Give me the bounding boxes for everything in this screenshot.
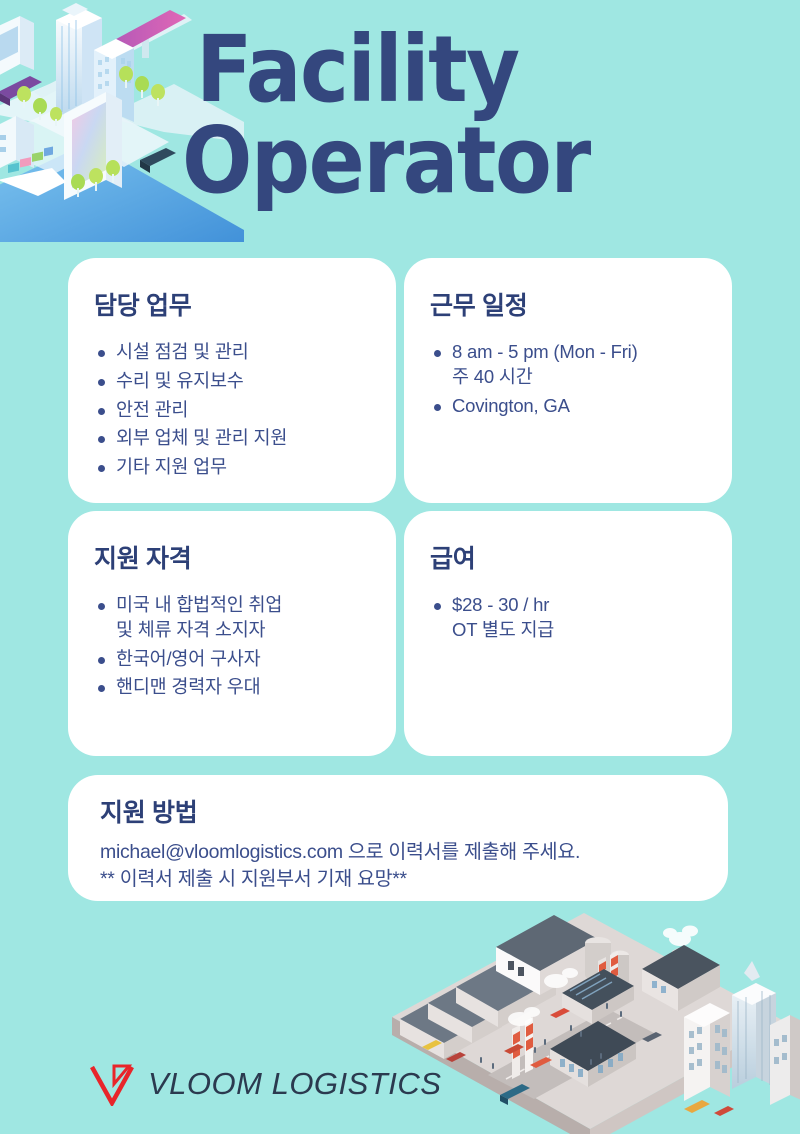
card-duties-title: 담당 업무 [94, 286, 370, 322]
list-item-text: 기타 지원 업무 [116, 456, 227, 477]
card-schedule-list: 8 am - 5 pm (Mon - Fri) 주 40 시간 Covingto… [430, 340, 706, 418]
title-line-1: Facility [196, 24, 666, 115]
list-item: 기타 지원 업무 [94, 455, 370, 480]
apply-instructions-line-2: ** 이력서 제출 시 지원부서 기재 요망** [100, 866, 702, 893]
list-item-text: 미국 내 합법적인 취업 [116, 594, 282, 615]
list-item-subtext: 및 체류 자격 소지자 [116, 618, 370, 643]
list-item: 8 am - 5 pm (Mon - Fri) 주 40 시간 [430, 340, 706, 390]
list-item-text: 핸디맨 경력자 우대 [116, 676, 260, 697]
card-salary-title: 급여 [430, 539, 706, 575]
card-salary-list: $28 - 30 / hr OT 별도 지급 [430, 593, 706, 643]
company-logo: VLOOM LOGISTICS [88, 1062, 441, 1106]
list-item-text: 수리 및 유지보수 [116, 370, 244, 391]
list-item-text: $28 - 30 / hr [452, 594, 549, 615]
vloom-v-mark-icon [88, 1062, 138, 1106]
list-item: 핸디맨 경력자 우대 [94, 675, 370, 700]
list-item-text: Covington, GA [452, 395, 570, 416]
list-item-subtext: 주 40 시간 [452, 365, 706, 390]
list-item-text: 안전 관리 [116, 399, 188, 420]
list-item: 수리 및 유지보수 [94, 369, 370, 394]
apply-instructions-line-1: michael@vloomlogistics.com 으로 이력서를 제출해 주… [100, 839, 702, 866]
logo-wordmark: VLOOM LOGISTICS [148, 1066, 441, 1102]
list-item: 시설 점검 및 관리 [94, 340, 370, 365]
card-qualifications-title: 지원 자격 [94, 539, 370, 575]
card-qualifications: 지원 자격 미국 내 합법적인 취업 및 체류 자격 소지자 한국어/영어 구사… [68, 511, 396, 756]
list-item: 한국어/영어 구사자 [94, 647, 370, 672]
card-schedule: 근무 일정 8 am - 5 pm (Mon - Fri) 주 40 시간 Co… [404, 258, 732, 503]
list-item: Covington, GA [430, 394, 706, 419]
card-duties: 담당 업무 시설 점검 및 관리 수리 및 유지보수 안전 관리 외부 업체 및… [68, 258, 396, 503]
card-apply: 지원 방법 michael@vloomlogistics.com 으로 이력서를… [68, 775, 728, 901]
title-line-2: Operator [182, 115, 666, 206]
list-item: $28 - 30 / hr OT 별도 지급 [430, 593, 706, 643]
list-item-text: 외부 업체 및 관리 지원 [116, 427, 287, 448]
list-item-text: 시설 점검 및 관리 [116, 341, 249, 362]
card-qualifications-list: 미국 내 합법적인 취업 및 체류 자격 소지자 한국어/영어 구사자 핸디맨 … [94, 593, 370, 700]
list-item-subtext: OT 별도 지급 [452, 618, 706, 643]
list-item-text: 한국어/영어 구사자 [116, 648, 260, 669]
list-item: 안전 관리 [94, 398, 370, 423]
card-schedule-title: 근무 일정 [430, 286, 706, 322]
poster-title: Facility Operator [196, 24, 666, 206]
list-item: 미국 내 합법적인 취업 및 체류 자격 소지자 [94, 593, 370, 643]
list-item-text: 8 am - 5 pm (Mon - Fri) [452, 341, 638, 362]
card-duties-list: 시설 점검 및 관리 수리 및 유지보수 안전 관리 외부 업체 및 관리 지원… [94, 340, 370, 480]
card-apply-title: 지원 방법 [100, 793, 702, 829]
card-salary: 급여 $28 - 30 / hr OT 별도 지급 [404, 511, 732, 756]
info-card-grid: 담당 업무 시설 점검 및 관리 수리 및 유지보수 안전 관리 외부 업체 및… [68, 258, 732, 756]
list-item: 외부 업체 및 관리 지원 [94, 426, 370, 451]
isometric-factory-illustration [384, 899, 800, 1134]
